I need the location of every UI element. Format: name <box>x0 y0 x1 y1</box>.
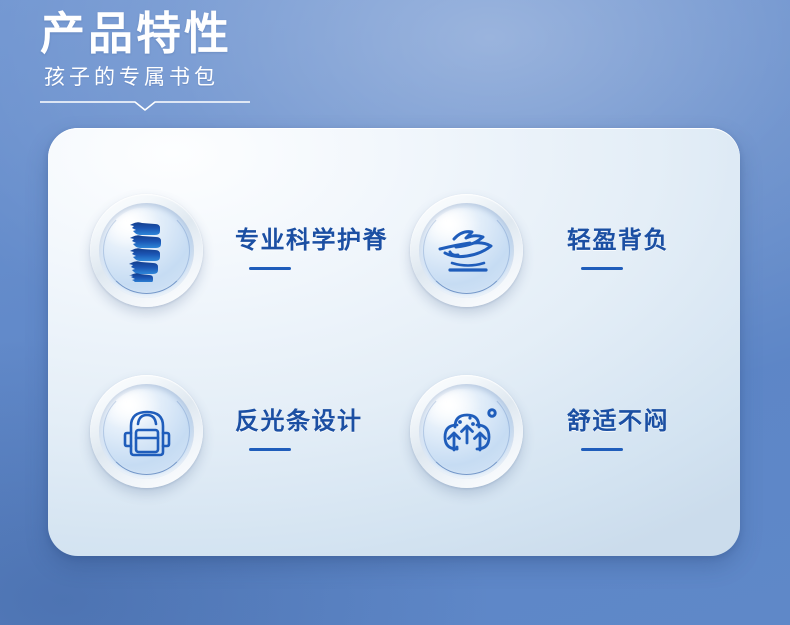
feature-underline <box>581 448 623 451</box>
backpack-icon <box>90 375 203 488</box>
feature-underline <box>249 267 291 270</box>
feature-underline <box>249 448 291 451</box>
feature-item-lightweight[interactable]: 轻盈背负 <box>400 160 722 341</box>
feature-icon-orb <box>410 375 523 488</box>
feature-icon-orb <box>90 194 203 307</box>
poster-header: 产品特性 孩子的专属书包 <box>40 8 460 113</box>
features-card: 专业科学护脊 <box>48 128 740 556</box>
feature-icon-orb <box>410 194 523 307</box>
feature-label-block: 专业科学护脊 <box>235 226 388 276</box>
feather-icon <box>410 194 523 307</box>
spine-icon <box>90 194 203 307</box>
feature-label-block: 轻盈背负 <box>567 226 669 276</box>
feature-icon-orb <box>90 375 203 488</box>
feature-label: 轻盈背负 <box>567 226 669 256</box>
feature-item-breathable[interactable]: 舒适不闷 <box>400 341 722 522</box>
feature-label: 专业科学护脊 <box>235 226 388 256</box>
feature-item-spine[interactable]: 专业科学护脊 <box>78 160 400 341</box>
feature-label: 舒适不闷 <box>567 407 669 437</box>
breathable-airflow-icon <box>410 375 523 488</box>
feature-label-block: 舒适不闷 <box>567 407 669 457</box>
feature-label: 反光条设计 <box>235 407 363 437</box>
feature-underline <box>581 267 623 270</box>
divider-with-chevron-icon <box>40 99 250 113</box>
features-grid: 专业科学护脊 <box>48 128 740 556</box>
page-title: 产品特性 <box>40 8 460 60</box>
feature-label-block: 反光条设计 <box>235 407 363 457</box>
feature-item-reflective[interactable]: 反光条设计 <box>78 341 400 522</box>
page-subtitle: 孩子的专属书包 <box>44 63 460 93</box>
product-feature-poster: 产品特性 孩子的专属书包 <box>0 0 790 625</box>
